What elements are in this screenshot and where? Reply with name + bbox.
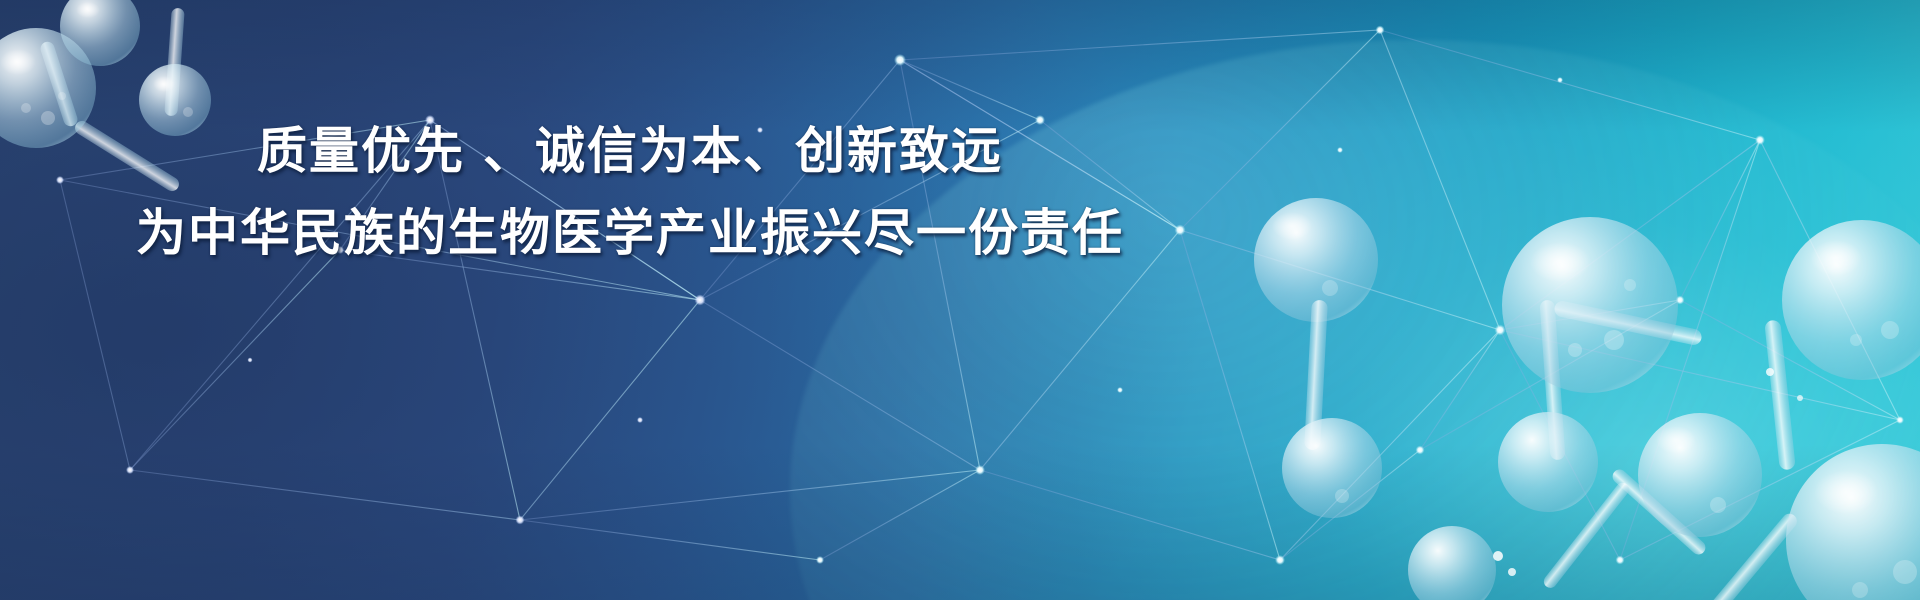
slogan-line-1-part-1: 质量优先 [257, 123, 465, 179]
network-constellation-icon [0, 0, 1920, 600]
headline-block: 质量优先、诚信为本、创新致远 为中华民族的生物医学产业振兴尽一份责任 [0, 118, 1260, 266]
slogan-line-1-part-2: 、诚信为本、创新致远 [483, 123, 1003, 179]
hero-banner: 质量优先、诚信为本、创新致远 为中华民族的生物医学产业振兴尽一份责任 [0, 0, 1920, 600]
slogan-line-1: 质量优先、诚信为本、创新致远 [0, 118, 1260, 184]
slogan-line-2: 为中华民族的生物医学产业振兴尽一份责任 [0, 200, 1260, 266]
